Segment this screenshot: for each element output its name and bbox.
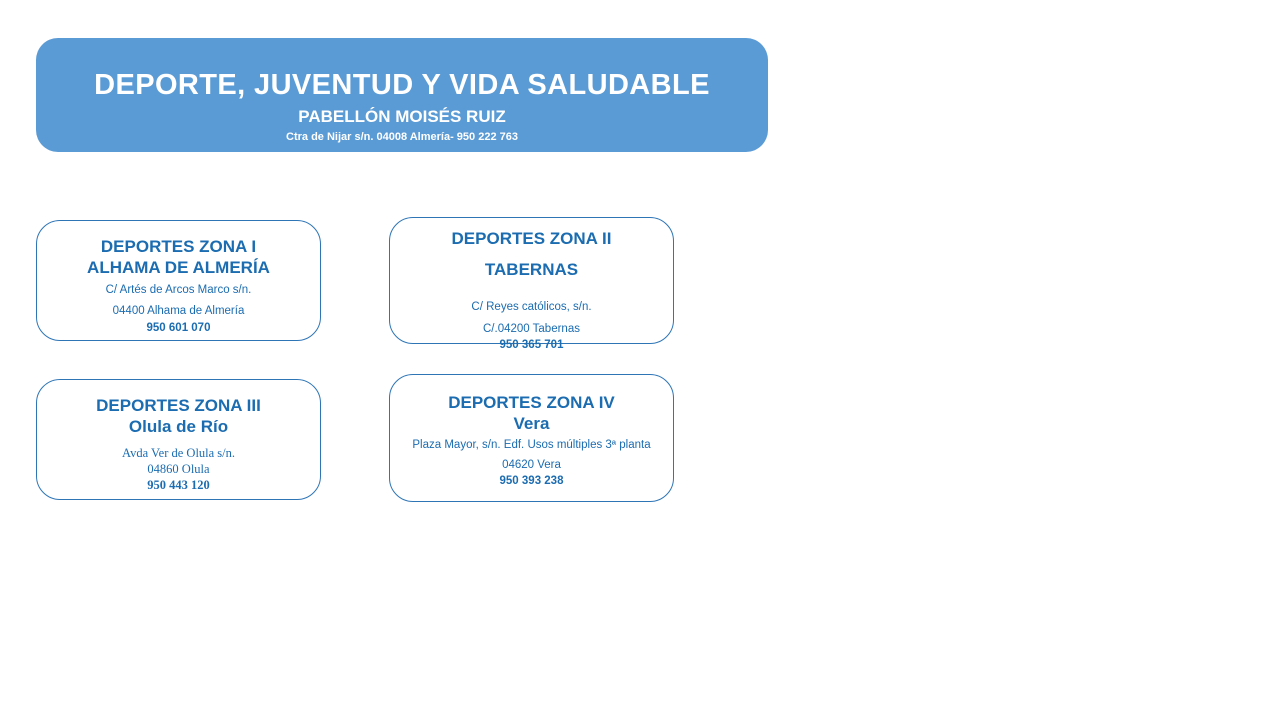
zone-address-line-2: 04400 Alhama de Almería (37, 303, 320, 320)
zone-address-line-1: Plaza Mayor, s/n. Edf. Usos múltiples 3ª… (390, 437, 673, 453)
zone-title: DEPORTES ZONA III (37, 395, 320, 416)
zone-card-2: DEPORTES ZONA II TABERNAS C/ Reyes catól… (389, 217, 674, 344)
zone-place: Vera (390, 414, 673, 435)
zone-phone: 950 443 120 (37, 477, 320, 493)
zone-phone: 950 393 238 (390, 473, 673, 489)
zone-place: TABERNAS (390, 261, 673, 280)
zone-address-line-2: 04620 Vera (390, 457, 673, 473)
zone-address-line-1: C/ Artés de Arcos Marco s/n. (37, 282, 320, 299)
page-subtitle: PABELLÓN MOISÉS RUIZ (298, 108, 505, 127)
zone-address-line-1: C/ Reyes católicos, s/n. (390, 301, 673, 314)
zone-address-line-1: Avda Ver de Olula s/n. (37, 445, 320, 461)
header-contact-line: Ctra de Nijar s/n. 04008 Almería- 950 22… (286, 131, 518, 143)
zone-title: DEPORTES ZONA I (37, 237, 320, 258)
zone-phone: 950 365 701 (390, 339, 673, 352)
zone-card-4: DEPORTES ZONA IV Vera Plaza Mayor, s/n. … (389, 374, 674, 502)
zone-phone: 950 601 070 (37, 320, 320, 337)
zone-card-1: DEPORTES ZONA I ALHAMA DE ALMERÍA C/ Art… (36, 220, 321, 341)
zone-card-3: DEPORTES ZONA III Olula de Río Avda Ver … (36, 379, 321, 500)
header-banner: DEPORTE, JUVENTUD Y VIDA SALUDABLE PABEL… (36, 38, 768, 152)
zone-title: DEPORTES ZONA II (390, 230, 673, 249)
zone-address-line-2: 04860 Olula (37, 461, 320, 477)
page-title: DEPORTE, JUVENTUD Y VIDA SALUDABLE (94, 70, 710, 100)
zone-place: Olula de Río (37, 416, 320, 437)
zone-address-line-2: C/.04200 Tabernas (390, 323, 673, 336)
zone-title: DEPORTES ZONA IV (390, 393, 673, 414)
zone-place: ALHAMA DE ALMERÍA (37, 258, 320, 279)
